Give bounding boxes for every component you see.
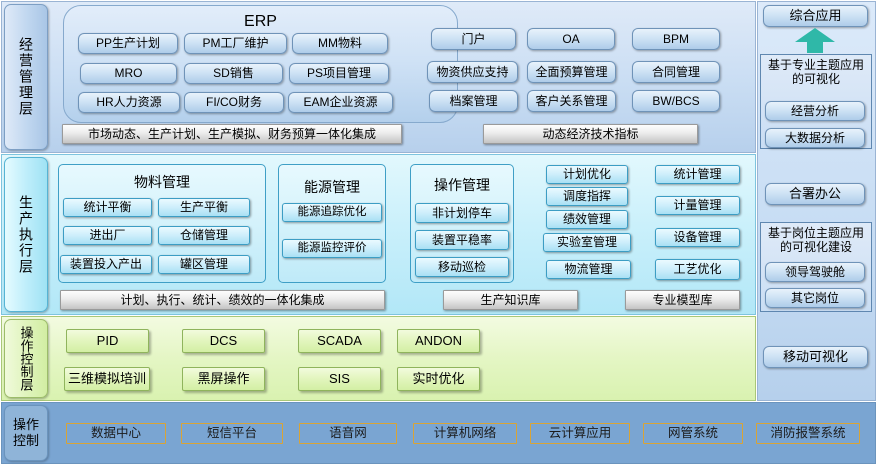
prod-item-plan-opt[interactable]: 计划优化: [546, 165, 628, 184]
prod-integration-bar[interactable]: 计划、执行、统计、绩效的一体化集成: [60, 290, 385, 310]
sidebar-layer-base[interactable]: 操作 控制: [4, 405, 48, 461]
rail-group-b-note-line2: 的可视化建设: [760, 240, 872, 254]
rail-group-a-note-line2: 的可视化: [760, 72, 872, 86]
biz-item-portal[interactable]: 门户: [431, 28, 516, 50]
erp-item-fico[interactable]: FI/CO财务: [184, 92, 284, 113]
base-item-data-center[interactable]: 数据中心: [66, 423, 166, 444]
rail-item-other-roles[interactable]: 其它岗位: [765, 288, 865, 308]
energy-group-title: 能源管理: [279, 177, 385, 197]
biz-item-crm[interactable]: 客户关系管理: [527, 90, 616, 112]
material-item-tank[interactable]: 罐区管理: [158, 255, 250, 274]
rail-mobile-visualization-button[interactable]: 移动可视化: [763, 346, 868, 368]
base-item-sms[interactable]: 短信平台: [181, 423, 283, 444]
prod-item-process-opt[interactable]: 工艺优化: [655, 259, 740, 280]
rail-joint-office-button[interactable]: 合署办公: [765, 183, 865, 205]
material-item-prod-balance[interactable]: 生产平衡: [158, 198, 250, 217]
rail-group-b-note-line1: 基于岗位主题应用: [760, 226, 872, 240]
control-item-pid[interactable]: PID: [66, 329, 149, 353]
biz-item-oa[interactable]: OA: [527, 28, 615, 50]
material-item-in-out[interactable]: 进出厂: [63, 226, 152, 245]
biz-indicator-bar[interactable]: 动态经济技术指标: [483, 124, 698, 144]
biz-integration-bar[interactable]: 市场动态、生产计划、生产模拟、财务预算一体化集成: [62, 124, 402, 144]
prod-knowledge-bar[interactable]: 生产知识库: [443, 290, 578, 310]
biz-item-contract[interactable]: 合同管理: [632, 61, 720, 83]
prod-item-performance[interactable]: 绩效管理: [546, 210, 628, 229]
operation-item-mobile-inspect[interactable]: 移动巡检: [415, 257, 509, 277]
erp-item-sd[interactable]: SD销售: [184, 63, 283, 84]
sidebar-layer-base-line2: 控制: [13, 433, 39, 449]
erp-item-eam[interactable]: EAM企业资源: [288, 92, 393, 113]
prod-item-metering[interactable]: 计量管理: [655, 196, 740, 215]
sidebar-layer-production[interactable]: 生产执行层: [4, 157, 48, 312]
material-group-title: 物料管理: [59, 172, 265, 192]
rail-group-b-note: 基于岗位主题应用 的可视化建设: [760, 226, 872, 255]
sidebar-layer-business[interactable]: 经营管理层: [4, 4, 48, 150]
material-item-stat-balance[interactable]: 统计平衡: [63, 198, 152, 217]
arrow-up-icon: [795, 28, 835, 54]
sidebar-layer-control[interactable]: 操作控制层: [4, 319, 48, 398]
erp-item-mm[interactable]: MM物料: [292, 33, 388, 54]
energy-item-tracking[interactable]: 能源追踪优化: [282, 203, 382, 222]
control-item-black-screen[interactable]: 黑屏操作: [182, 367, 265, 391]
rail-group-a-note: 基于专业主题应用 的可视化: [760, 58, 872, 87]
base-item-computer-net[interactable]: 计算机网络: [413, 423, 517, 444]
operation-item-unplanned-stop[interactable]: 非计划停车: [415, 203, 509, 223]
operation-item-stability[interactable]: 装置平稳率: [415, 230, 509, 250]
erp-item-hr[interactable]: HR人力资源: [78, 92, 180, 113]
erp-item-mro[interactable]: MRO: [80, 63, 177, 84]
energy-group-panel: 能源管理: [278, 164, 386, 283]
base-item-network-mgmt[interactable]: 网管系统: [643, 423, 743, 444]
base-item-cloud[interactable]: 云计算应用: [530, 423, 630, 444]
rail-item-leader-cockpit[interactable]: 领导驾驶舱: [765, 262, 865, 282]
biz-item-supply[interactable]: 物资供应支持: [427, 61, 518, 83]
material-item-warehouse[interactable]: 仓储管理: [158, 226, 250, 245]
control-item-dcs[interactable]: DCS: [182, 329, 265, 353]
rail-item-bigdata-analysis[interactable]: 大数据分析: [765, 128, 865, 148]
control-item-realtime-opt[interactable]: 实时优化: [397, 367, 480, 391]
erp-group-title: ERP: [64, 13, 457, 31]
control-item-sis[interactable]: SIS: [298, 367, 381, 391]
biz-item-archive[interactable]: 档案管理: [429, 90, 518, 112]
control-item-scada[interactable]: SCADA: [298, 329, 381, 353]
architecture-diagram: 经营管理层 生产执行层 操作控制层 操作 控制 ERP PP生产计划 PM工厂维…: [0, 0, 877, 466]
base-item-voice-net[interactable]: 语音网: [299, 423, 397, 444]
rail-group-a-note-line1: 基于专业主题应用: [760, 58, 872, 72]
energy-item-monitoring[interactable]: 能源监控评价: [282, 239, 382, 258]
prod-item-lab[interactable]: 实验室管理: [543, 233, 631, 252]
sidebar-layer-base-line1: 操作: [13, 417, 39, 433]
material-item-unit-io[interactable]: 装置投入产出: [60, 255, 152, 274]
base-item-fire-alarm[interactable]: 消防报警系统: [756, 423, 860, 444]
prod-item-equipment[interactable]: 设备管理: [655, 228, 740, 247]
erp-item-ps[interactable]: PS项目管理: [289, 63, 389, 84]
prod-item-logistics[interactable]: 物流管理: [546, 260, 631, 279]
control-item-andon[interactable]: ANDON: [397, 329, 480, 353]
rail-item-business-analysis[interactable]: 经营分析: [765, 101, 865, 121]
erp-item-pp[interactable]: PP生产计划: [78, 33, 178, 54]
prod-item-statistics[interactable]: 统计管理: [655, 165, 740, 184]
prod-model-bar[interactable]: 专业模型库: [625, 290, 740, 310]
prod-item-dispatch[interactable]: 调度指挥: [546, 187, 628, 206]
biz-item-bwbcs[interactable]: BW/BCS: [632, 90, 720, 112]
biz-item-budget[interactable]: 全面预算管理: [527, 61, 616, 83]
rail-comprehensive-app-button[interactable]: 综合应用: [763, 5, 868, 27]
operation-group-title: 操作管理: [411, 175, 513, 195]
biz-item-bpm[interactable]: BPM: [632, 28, 720, 50]
control-item-3d-training[interactable]: 三维模拟培训: [64, 367, 150, 391]
erp-item-pm[interactable]: PM工厂维护: [184, 33, 287, 54]
